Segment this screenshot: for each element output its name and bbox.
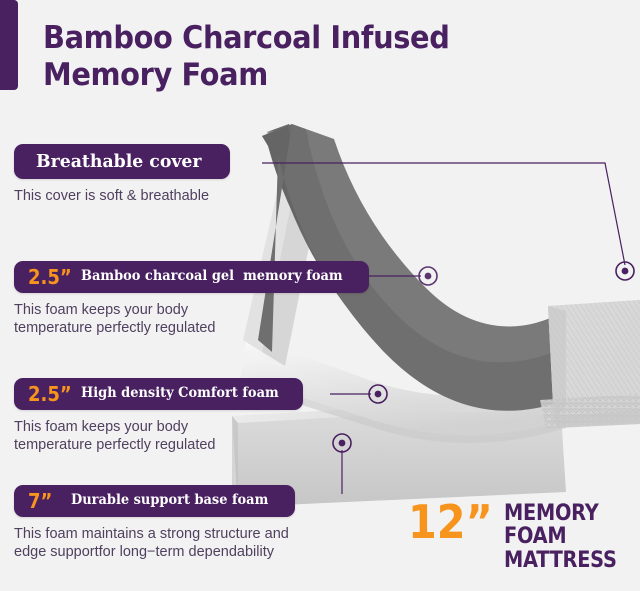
callout-durable-support-base-foam: 7” Durable support base foam This foam m…	[14, 485, 364, 561]
callout-pill-durable-support-base-foam[interactable]: 7” Durable support base foam	[14, 485, 295, 517]
callout-description-high-density-comfort-foam: This foam keeps your body temperature pe…	[14, 419, 334, 454]
callout-pill-breathable-cover[interactable]: Breathable cover	[14, 144, 230, 179]
page-title: Bamboo Charcoal Infused Memory Foam	[43, 20, 480, 93]
marker-comfort-foam	[369, 385, 387, 403]
product-size-badge: 12” MEMORY FOAM MATTRESS	[408, 500, 640, 572]
marker-memory-foam	[419, 267, 437, 285]
marker-base-foam	[333, 434, 351, 452]
mattress-infographic: Bamboo Charcoal Infused Memory Foam	[0, 0, 640, 591]
callout-label-bamboo-charcoal-gel-memory-foam: Bamboo charcoal gel memory foam	[81, 270, 343, 284]
callout-bamboo-charcoal-gel-memory-foam: 2.5” Bamboo charcoal gel memory foam Thi…	[14, 261, 354, 337]
callout-description-breathable-cover: This cover is soft & breathable	[14, 188, 264, 206]
callout-measure-durable-support-base-foam: 7”	[28, 491, 52, 511]
callout-label-high-density-comfort-foam: High density Comfort foam	[81, 387, 279, 401]
callout-breathable-cover: Breathable cover This cover is soft & br…	[14, 144, 264, 206]
product-size-words: MEMORY FOAM MATTRESS	[504, 500, 623, 572]
callout-pill-high-density-comfort-foam[interactable]: 2.5” High density Comfort foam	[14, 378, 303, 410]
callout-measure-bamboo-charcoal-gel-memory-foam: 2.5”	[28, 267, 72, 287]
callout-measure-high-density-comfort-foam: 2.5”	[28, 384, 72, 404]
title-accent-bar	[0, 0, 18, 90]
marker-cover	[616, 262, 634, 280]
callout-pill-bamboo-charcoal-gel-memory-foam[interactable]: 2.5” Bamboo charcoal gel memory foam	[14, 261, 369, 293]
callout-high-density-comfort-foam: 2.5” High density Comfort foam This foam…	[14, 378, 334, 454]
callout-label-durable-support-base-foam: Durable support base foam	[71, 494, 268, 508]
callout-label-breathable-cover: Breathable cover	[36, 153, 201, 171]
callout-description-bamboo-charcoal-gel-memory-foam: This foam keeps your body temperature pe…	[14, 302, 354, 337]
product-size-number: 12”	[408, 500, 493, 544]
callout-description-durable-support-base-foam: This foam maintains a strong structure a…	[14, 526, 364, 561]
